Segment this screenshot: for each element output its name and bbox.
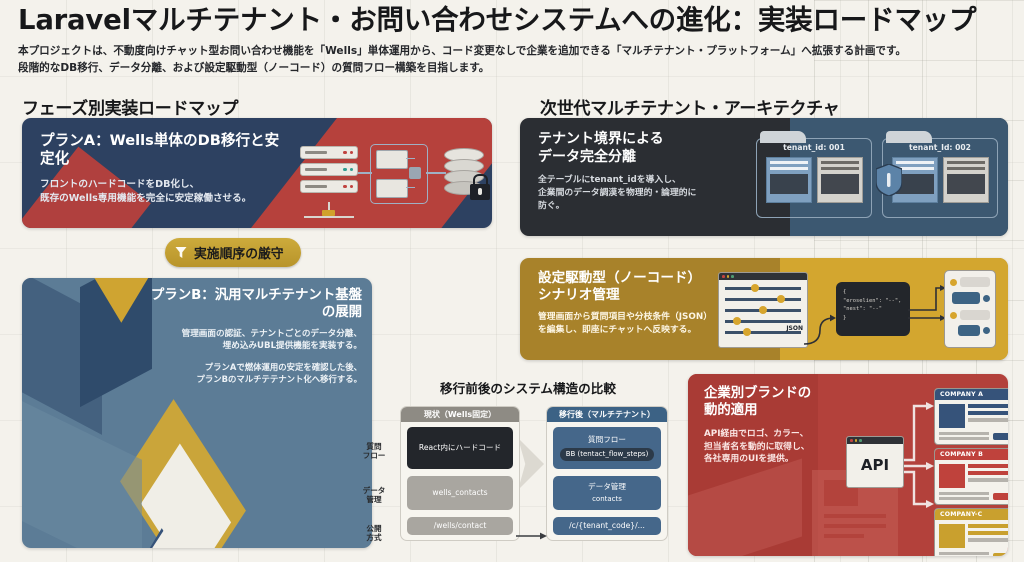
code-line-4: }	[843, 314, 903, 323]
infographic-page: Laravelマルチテナント・お問い合わせシステムへの進化：実装ロードマップ 本…	[0, 0, 1024, 562]
after-box-1: 質問フロー BB (tentact_flow_steps)	[553, 427, 661, 469]
company-b-label: COMPANY B	[935, 449, 1008, 460]
red-card-title-line-2: 動的適用	[704, 403, 874, 420]
migration-arrow-icon	[518, 438, 544, 490]
api-window: API	[846, 436, 904, 488]
company-a-label: COMPANY A	[935, 389, 1008, 400]
funnel-icon	[175, 246, 187, 259]
row-label-data-management: データ 管理	[354, 486, 394, 505]
code-line-2: "eroselien": "--",	[843, 297, 903, 306]
plan-a-card[interactable]: プランA：Wells単体のDB移行と安定化 フロントのハードコードをDB化し、 …	[22, 118, 492, 228]
section-title-left: フェーズ別実装ロードマップ	[22, 94, 238, 119]
comparison-title: 移行前後のシステム構造の比較	[378, 378, 678, 397]
subtitle-line-2: 段階的なDB移行、データ分離、および設定駆動型（ノーコード）の質問フロー構築を目…	[18, 60, 1008, 76]
gold-card-desc-line-2: を編集し、即座にチャットへ反映する。	[538, 324, 768, 337]
connector-curve-1	[804, 314, 838, 348]
plan-b-note-line-2: プランBのマルチテテナント化へ移行する。	[150, 373, 362, 385]
no-code-scenario-card[interactable]: 設定駆動型（ノーコード） シナリオ管理 管理画面から質問項目や分枝条件（JSON…	[520, 258, 1008, 360]
plan-b-desc-line-1: 管理画面の認証、テナントごとのデータ分離、	[150, 328, 362, 340]
plan-b-note: プランAで燃体運用の安定を確認した後、 プランBのマルチテテナント化へ移行する。	[150, 361, 362, 385]
plan-b-title: プランB：汎用マルチテナント基盤の展開	[150, 288, 362, 322]
tenant-card-desc-line-3: 防ぐ。	[538, 200, 778, 213]
row-label-question-flow: 質問 フロー	[354, 442, 394, 461]
plan-b-text: プランB：汎用マルチテナント基盤の展開 管理画面の認証、テナントごとのデータ分離…	[150, 288, 362, 385]
tenant-card-desc-line-1: 全テーブルにtenant_idを導入し、	[538, 174, 778, 187]
after-box-2-sub: contacts	[592, 495, 622, 504]
code-line-1: {	[843, 288, 903, 297]
gold-card-title: 設定駆動型（ノーコード） シナリオ管理	[538, 270, 768, 304]
after-header: 移行後（マルチテナント）	[547, 407, 667, 422]
connector-line	[358, 172, 372, 174]
tenant-card-desc-line-2: 企業間のデータ調漠を物理的・論理的に	[538, 187, 778, 200]
plan-b-desc: 管理画面の認証、テナントごとのデータ分離、 埋め込みUBL提供機能を実装する。	[150, 328, 362, 353]
after-box-1-sub: BB (tentact_flow_steps)	[560, 448, 655, 461]
header: Laravelマルチテナント・お問い合わせシステムへの進化：実装ロードマップ 本…	[18, 4, 1008, 76]
plan-a-desc: フロントのハードコードをDB化し、 既存のWells専用機能を完全に安定稼働させ…	[40, 178, 290, 206]
order-badge-label: 実施順序の厳守	[194, 243, 284, 262]
tenant-card-text: テナント境界による データ完全分離 全テーブルにtenant_idを導入し、 企…	[538, 131, 778, 213]
json-chip: JSON	[786, 325, 803, 332]
gold-card-desc-line-1: 管理画面から質問項目や分枝条件（JSON）	[538, 311, 768, 324]
company-card-c: COMPANY-C	[934, 508, 1008, 556]
before-header: 現状（Wells固定）	[401, 407, 519, 422]
brand-card[interactable]: 企業別ブランドの 動的適用 API経由でロゴ、カラー、 担当者名を動的に取得し、…	[688, 374, 1008, 556]
api-label: API	[847, 444, 903, 486]
before-box-1: React内にハードコード	[407, 427, 513, 469]
connector-line-2	[426, 172, 446, 174]
schema-group-icon	[370, 144, 428, 204]
cross-connector-arrow	[516, 530, 550, 542]
plan-b-desc-line-2: 埋め込みUBL提供機能を実装する。	[150, 340, 362, 352]
red-card-title-line-1: 企業別ブランドの	[704, 386, 874, 403]
before-box-2: wells_contacts	[407, 476, 513, 510]
company-card-a: COMPANY A	[934, 388, 1008, 445]
section-title-right: 次世代マルチテナント・アーキテクチャ	[540, 94, 839, 119]
plan-b-note-line-1: プランAで燃体運用の安定を確認した後、	[150, 361, 362, 373]
order-badge[interactable]: 実施順序の厳守	[165, 238, 301, 267]
plan-a-title: プランA：Wells単体のDB移行と安定化	[40, 132, 290, 169]
red-card-title: 企業別ブランドの 動的適用	[704, 386, 874, 420]
plan-a-desc-line-2: 既存のWells専用機能を完全に安定稼働させる。	[40, 192, 290, 206]
subtitle-line-1: 本プロジェクトは、不動度向けチャット型お問い合わせ機能を「Wells」単体運用か…	[18, 43, 1008, 59]
page-subtitle: 本プロジェクトは、不動度向けチャット型お問い合わせ機能を「Wells」単体運用か…	[18, 43, 1008, 76]
tenant-card-title-line-1: テナント境界による	[538, 131, 778, 149]
before-column[interactable]: 現状（Wells固定） React内にハードコード wells_contacts…	[400, 406, 520, 541]
tenant-folder-002-label: tenant_Id: 002	[883, 143, 997, 152]
gold-card-title-line-2: シナリオ管理	[538, 287, 768, 304]
gold-card-desc: 管理画面から質問項目や分枝条件（JSON） を編集し、即座にチャットへ反映する。	[538, 311, 768, 337]
plan-b-card[interactable]: テナントA テナントB	[22, 278, 372, 548]
after-box-2: データ管理 contacts	[553, 476, 661, 510]
plan-a-desc-line-1: フロントのハードコードをDB化し、	[40, 178, 290, 192]
before-box-3: /wells/contact	[407, 517, 513, 535]
after-box-1-title: 質問フロー	[588, 435, 626, 445]
connector-arrows	[908, 280, 948, 326]
gold-card-title-line-1: 設定駆動型（ノーコード）	[538, 270, 768, 287]
tenant-card-desc: 全テーブルにtenant_idを導入し、 企業間のデータ調漠を物理的・論理的に …	[538, 174, 778, 212]
json-code-panel: { "eroselien": "--", "nest": "--" }	[836, 282, 910, 336]
company-card-b: COMPANY B	[934, 448, 1008, 505]
server-stack-icon	[300, 146, 358, 193]
shield-icon	[876, 164, 902, 200]
after-column[interactable]: 移行後（マルチテナント） 質問フロー BB (tentact_flow_step…	[546, 406, 668, 541]
chat-preview-panel	[944, 270, 996, 348]
plan-a-text: プランA：Wells単体のDB移行と安定化 フロントのハードコードをDB化し、 …	[40, 132, 290, 206]
comparison-diagram: 移行前後のシステム構造の比較 質問 フロー データ 管理 公開 方式 現状（We…	[378, 378, 678, 560]
tenant-card-title: テナント境界による データ完全分離	[538, 131, 778, 166]
tenant-isolation-card[interactable]: テナント境界による データ完全分離 全テーブルにtenant_idを導入し、 企…	[520, 118, 1008, 236]
after-box-2-title: データ管理	[588, 482, 626, 492]
code-line-3: "nest": "--"	[843, 305, 903, 314]
tenant-card-title-line-2: データ完全分離	[538, 149, 778, 167]
api-branch-arrows	[900, 392, 936, 516]
gold-card-text: 設定駆動型（ノーコード） シナリオ管理 管理画面から質問項目や分枝条件（JSON…	[538, 270, 768, 337]
lock-icon	[470, 174, 490, 201]
after-box-3: /c/{tenant_code}/...	[553, 517, 661, 535]
page-title: Laravelマルチテナント・お問い合わせシステムへの進化：実装ロードマップ	[18, 4, 1008, 36]
row-label-publish-method: 公開 方式	[354, 524, 394, 543]
company-c-label: COMPANY-C	[935, 509, 1008, 520]
